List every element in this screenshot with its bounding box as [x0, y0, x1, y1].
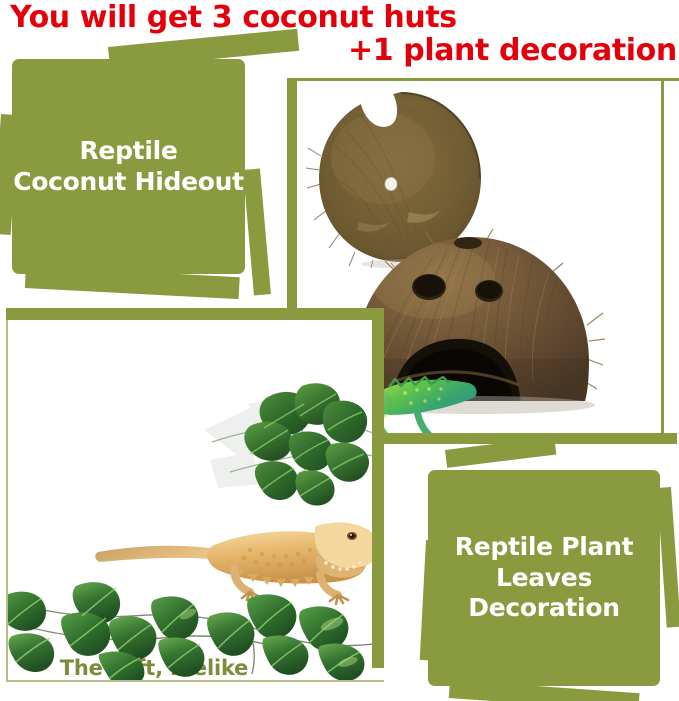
card-backing-shape-right — [657, 487, 679, 628]
card-backing-shape-top — [445, 437, 556, 468]
card-title-leaves-line3: Decoration — [468, 593, 619, 622]
card-title-leaves: Reptile Plant Leaves Decoration — [455, 532, 633, 624]
panel-frame-right-bar — [372, 308, 384, 668]
card-reptile-coconut-hideout: Reptile Coconut Hideout — [0, 40, 290, 290]
card-title-hideout: Reptile Coconut Hideout — [13, 136, 244, 197]
leaf-spray-photo — [8, 558, 372, 680]
vine-cluster-photo — [204, 368, 372, 508]
card-title-leaves-line1: Reptile Plant — [455, 532, 633, 561]
infographic-canvas: You will get 3 coconut huts +1 plant dec… — [0, 0, 679, 701]
card-title-hideout-line2: Coconut Hideout — [13, 167, 244, 196]
headline-secondary: +1 plant decoration — [348, 36, 677, 66]
panel-vines: The soft, lifelike vines with artificial… — [0, 308, 392, 686]
card-title-hideout-line1: Reptile — [79, 136, 177, 165]
card-surface: Reptile Plant Leaves Decoration — [428, 470, 660, 686]
panel-content-area: The soft, lifelike vines with artificial… — [8, 320, 372, 680]
card-reptile-plant-leaves-decoration: Reptile Plant Leaves Decoration — [410, 440, 679, 701]
panel-frame-right-rule — [661, 78, 664, 444]
panel-frame-top-bar — [6, 308, 384, 320]
card-title-leaves-line2: Leaves — [496, 563, 592, 592]
card-surface: Reptile Coconut Hideout — [12, 59, 245, 274]
headline-primary: You will get 3 coconut huts — [10, 3, 457, 33]
panel-frame-bottom-rule — [6, 680, 384, 682]
card-backing-shape-right — [243, 169, 271, 296]
